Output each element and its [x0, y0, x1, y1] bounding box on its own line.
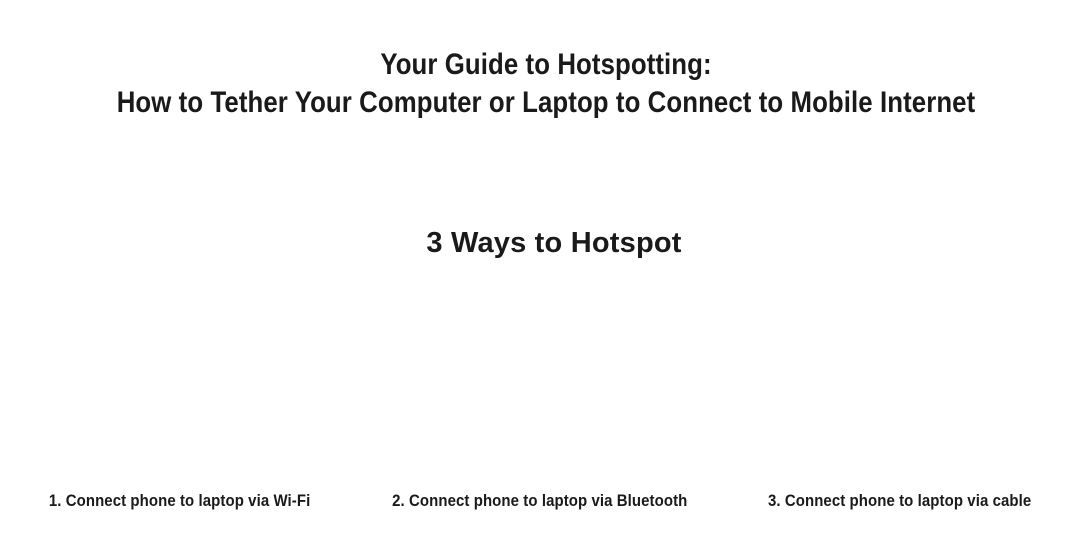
figure-image-1 [180, 380, 181, 381]
figure-cell-3 [720, 280, 1080, 480]
caption-cell-2: 2. Connect phone to laptop via Bluetooth [360, 489, 720, 513]
page-title-line-2: How to Tether Your Computer or Laptop to… [76, 84, 1015, 122]
figure-caption-2: 2. Connect phone to laptop via Bluetooth [392, 489, 687, 513]
figure-caption-1: 1. Connect phone to laptop via Wi-Fi [49, 489, 311, 513]
figure-cell-2 [360, 280, 720, 480]
section-heading: 3 Ways to Hotspot [0, 224, 1080, 262]
figure-caption-3: 3. Connect phone to laptop via cable [768, 489, 1031, 513]
figure-image-2 [540, 380, 541, 381]
figure-row [0, 280, 1080, 480]
figure-image-3 [900, 380, 901, 381]
document-page: Your Guide to Hotspotting: How to Tether… [0, 0, 1080, 552]
page-title-line-1: Your Guide to Hotspotting: [76, 46, 1015, 84]
figure-cell-1 [0, 280, 360, 480]
caption-row: 1. Connect phone to laptop via Wi-Fi 2. … [0, 489, 1080, 513]
caption-cell-1: 1. Connect phone to laptop via Wi-Fi [0, 489, 360, 513]
page-title: Your Guide to Hotspotting: How to Tether… [0, 46, 1080, 122]
caption-cell-3: 3. Connect phone to laptop via cable [720, 489, 1080, 513]
